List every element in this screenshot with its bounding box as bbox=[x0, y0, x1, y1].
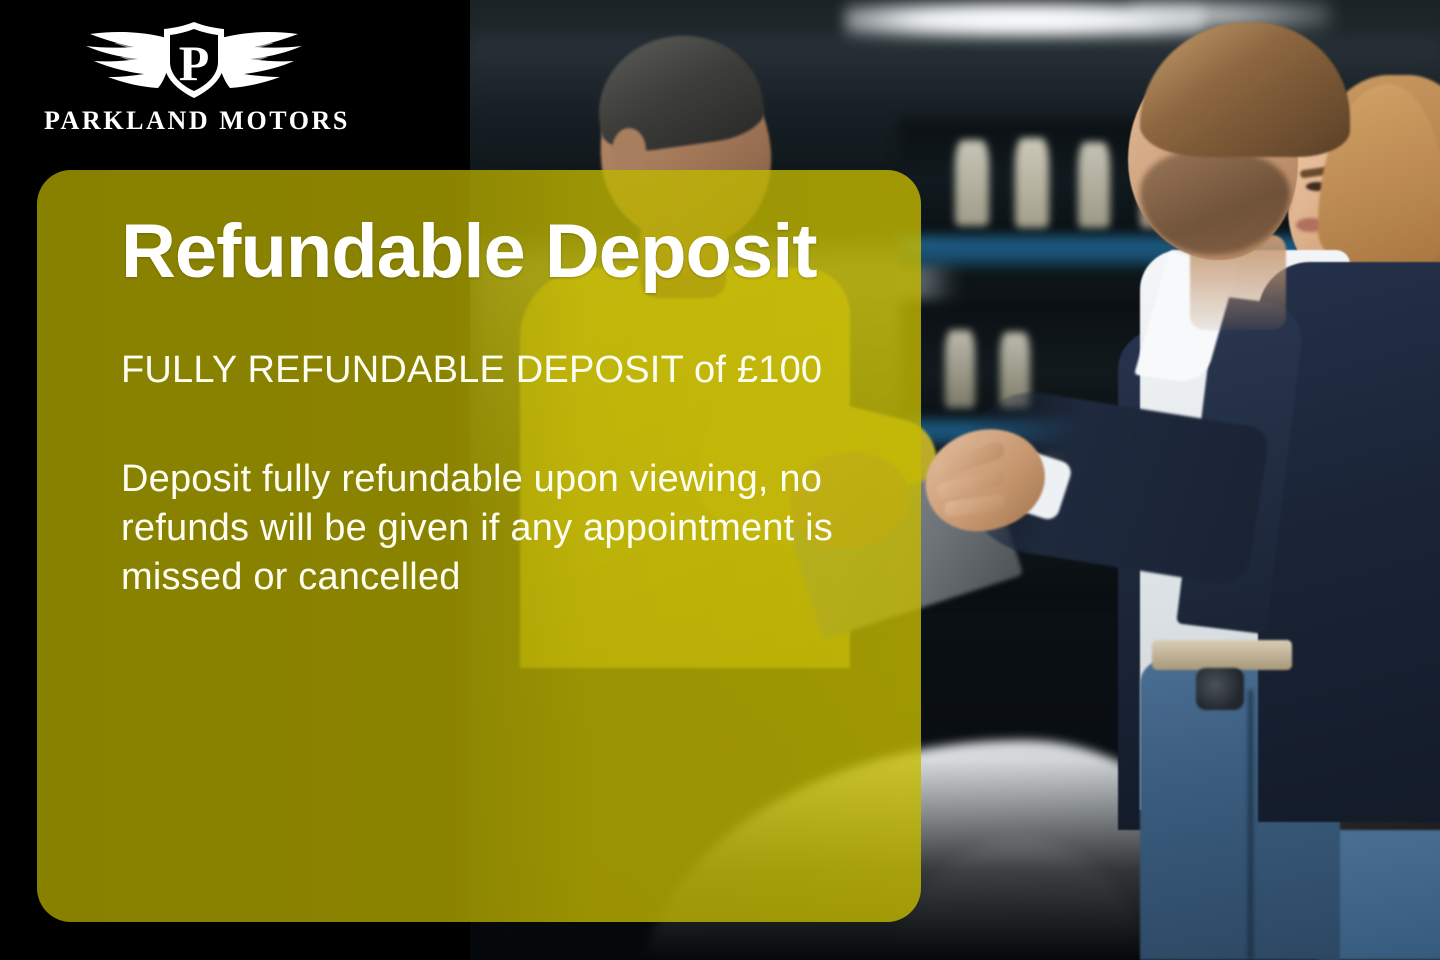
logo-monogram: P bbox=[179, 35, 210, 91]
male-customer-jeans-seam bbox=[1248, 690, 1253, 960]
shelf-bottle bbox=[955, 140, 989, 226]
brand-name: PARKLAND MOTORS bbox=[44, 106, 344, 136]
wristwatch-icon bbox=[1196, 668, 1244, 710]
salesperson-ear bbox=[612, 128, 646, 172]
shelf-bottle bbox=[1078, 142, 1110, 228]
brand-logo: P PARKLAND MOTORS bbox=[44, 18, 344, 146]
shelf-bottle bbox=[1015, 138, 1049, 228]
shelf-bottle bbox=[945, 330, 975, 408]
page-title: Refundable Deposit bbox=[121, 214, 863, 290]
winged-shield-p-icon: P bbox=[44, 18, 344, 104]
deposit-amount-text: FULLY REFUNDABLE DEPOSIT of £100 bbox=[121, 346, 863, 395]
male-customer-belt bbox=[1152, 640, 1292, 670]
deposit-terms-text: Deposit fully refundable upon viewing, n… bbox=[121, 455, 863, 603]
deposit-info-card: Refundable Deposit FULLY REFUNDABLE DEPO… bbox=[37, 170, 921, 922]
promo-banner: P PARKLAND MOTORS Refundable Deposit FUL… bbox=[0, 0, 1440, 960]
